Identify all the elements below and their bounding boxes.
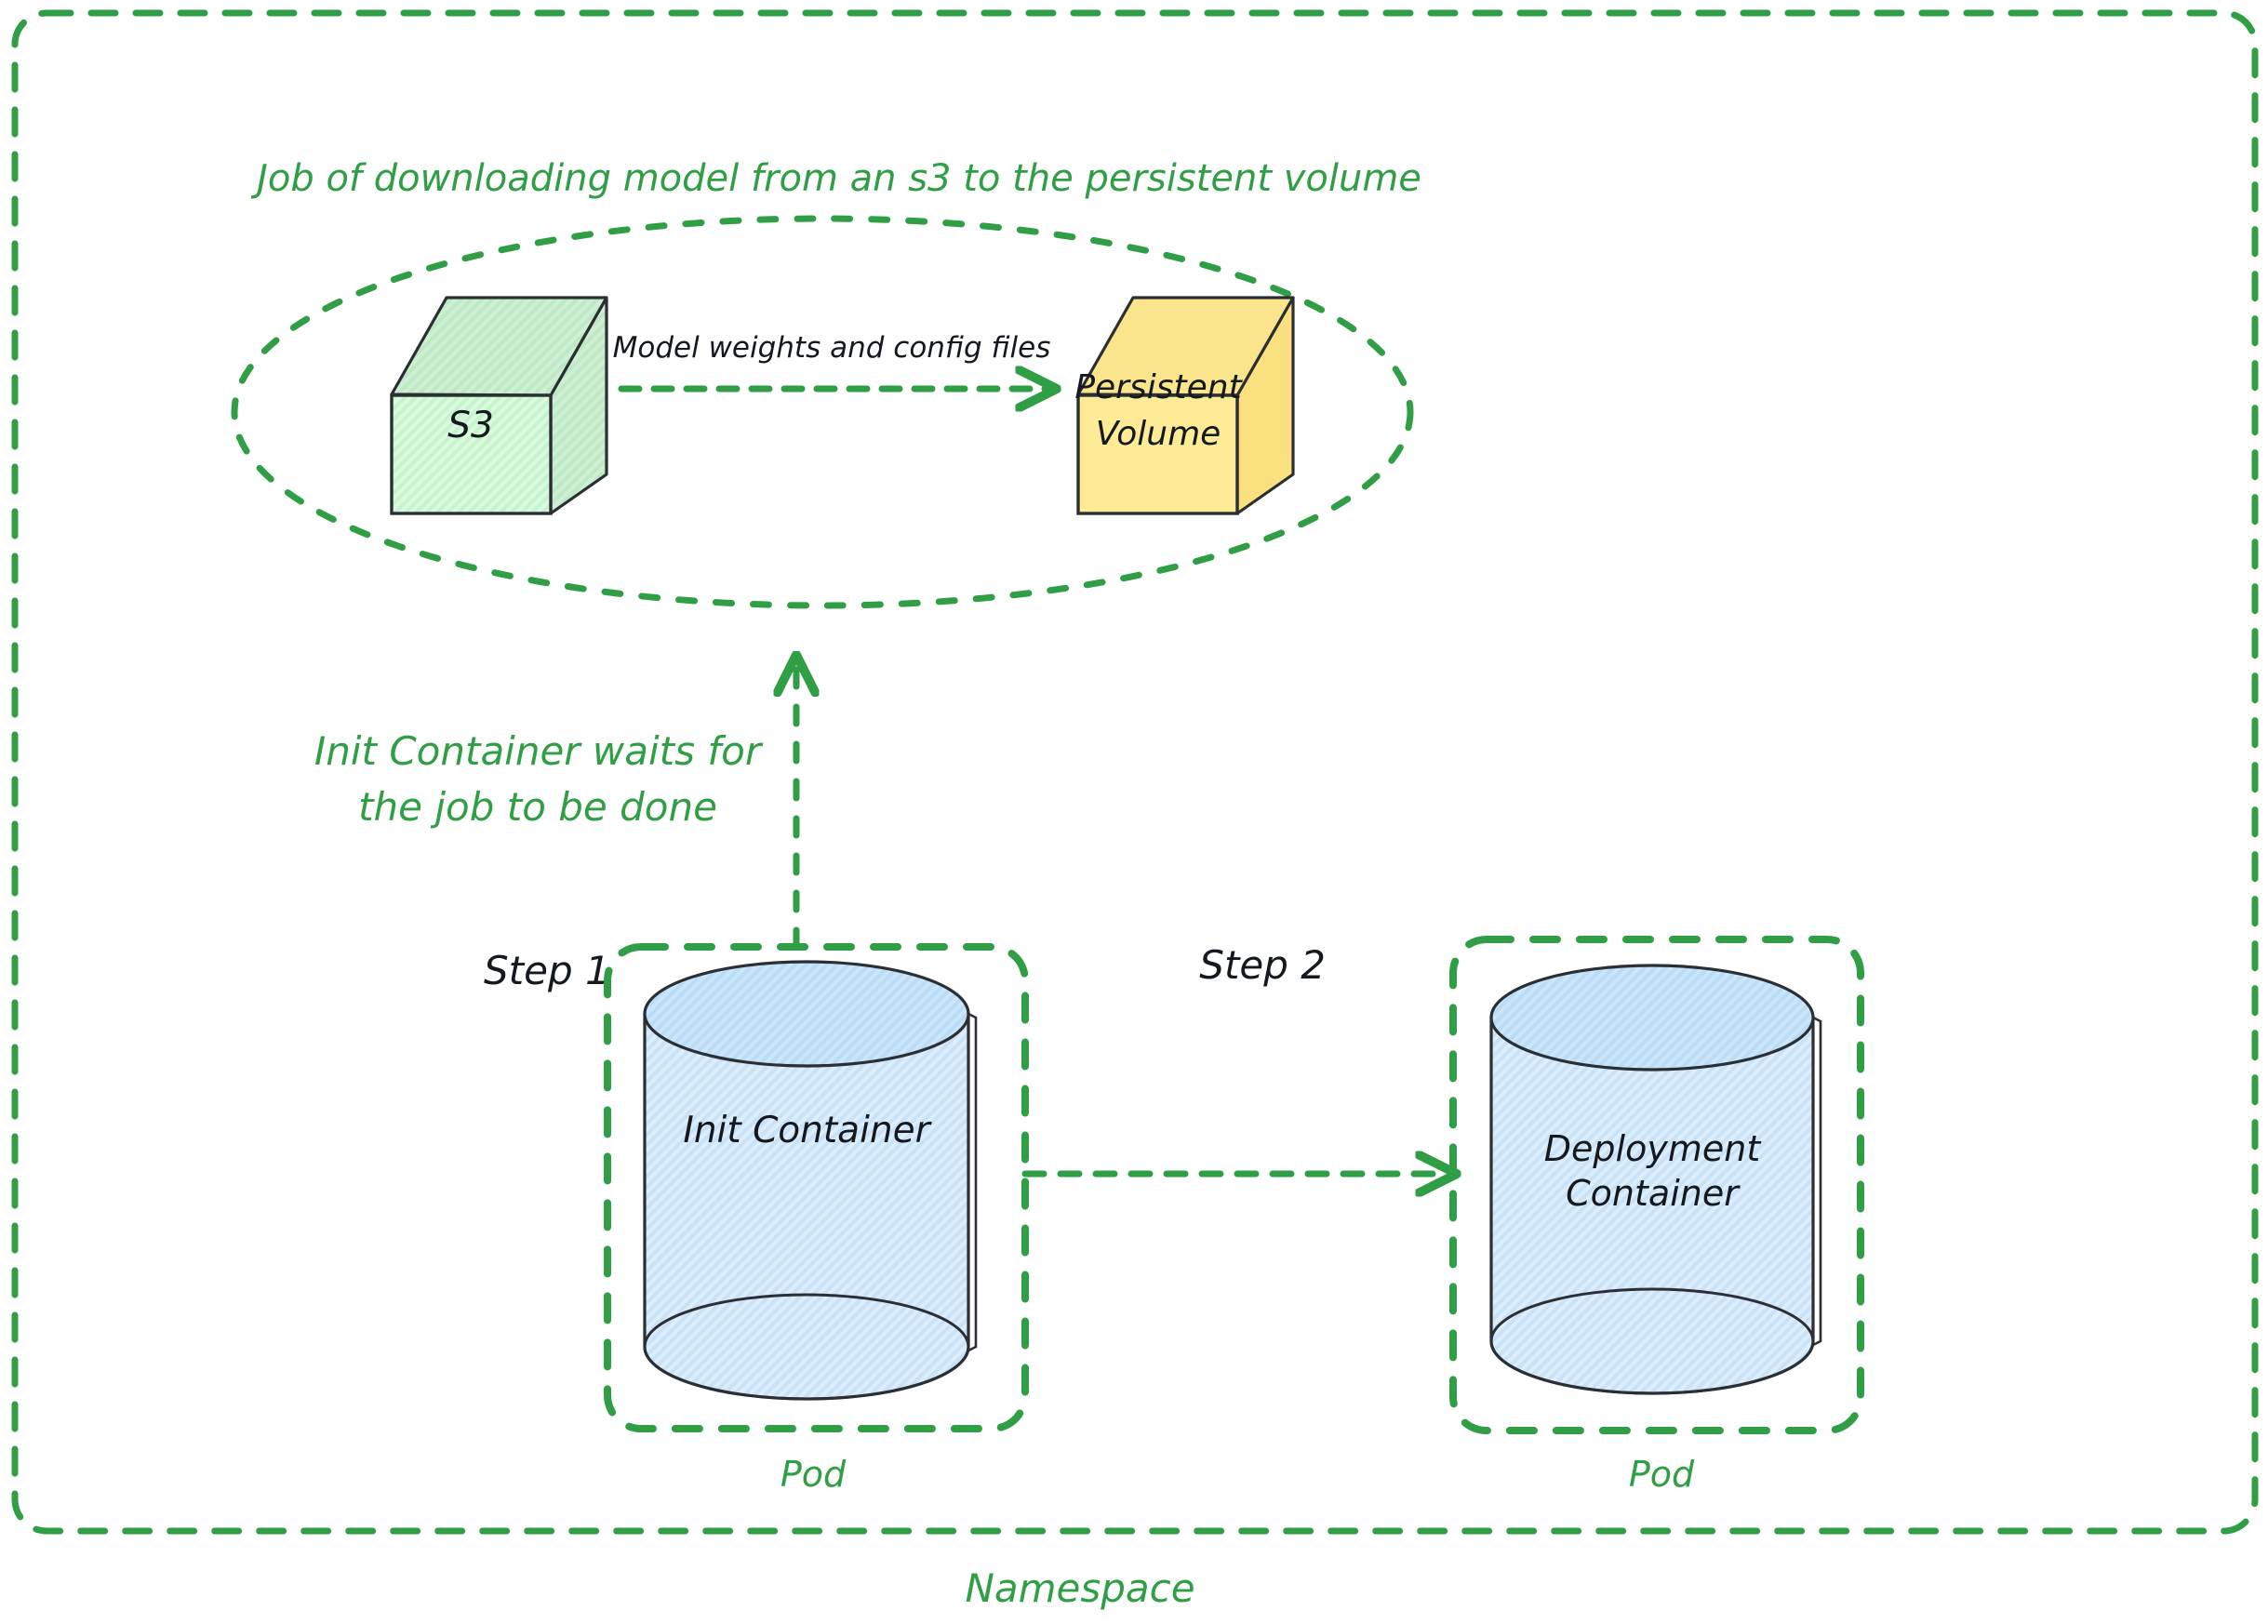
pod-1-label: Pod (780, 1454, 847, 1495)
diagram-svg: Namespace Job of downloading model from … (0, 0, 2268, 1624)
model-transfer-edge-label: Model weights and config files (613, 331, 1051, 365)
diagram-canvas: Namespace Job of downloading model from … (0, 0, 2268, 1624)
deployment-container-node: Deployment Container (1491, 965, 1821, 1393)
pod-2-step-label: Step 2 (1199, 942, 1326, 988)
init-wait-edge-label-line1: Init Container waits for (314, 728, 764, 774)
init-container-label: Init Container (683, 1110, 932, 1151)
pod-2-label: Pod (1629, 1454, 1695, 1495)
pod-1-step-label: Step 1 (484, 948, 610, 993)
namespace-label: Namespace (965, 1565, 1194, 1611)
s3-node-label: S3 (447, 405, 494, 446)
init-wait-edge-label-line2: the job to be done (358, 784, 717, 830)
job-title: Job of downloading model from an s3 to t… (250, 157, 1421, 200)
deployment-container-label-line1: Deployment (1544, 1128, 1763, 1169)
deployment-container-label-line2: Container (1566, 1173, 1741, 1214)
persistent-volume-node: Persistent Volume (1074, 298, 1293, 513)
init-container-node: Init Container (645, 962, 976, 1399)
persistent-volume-label-line2: Volume (1096, 415, 1221, 453)
s3-node: S3 (392, 298, 607, 513)
persistent-volume-label-line1: Persistent (1074, 368, 1243, 406)
